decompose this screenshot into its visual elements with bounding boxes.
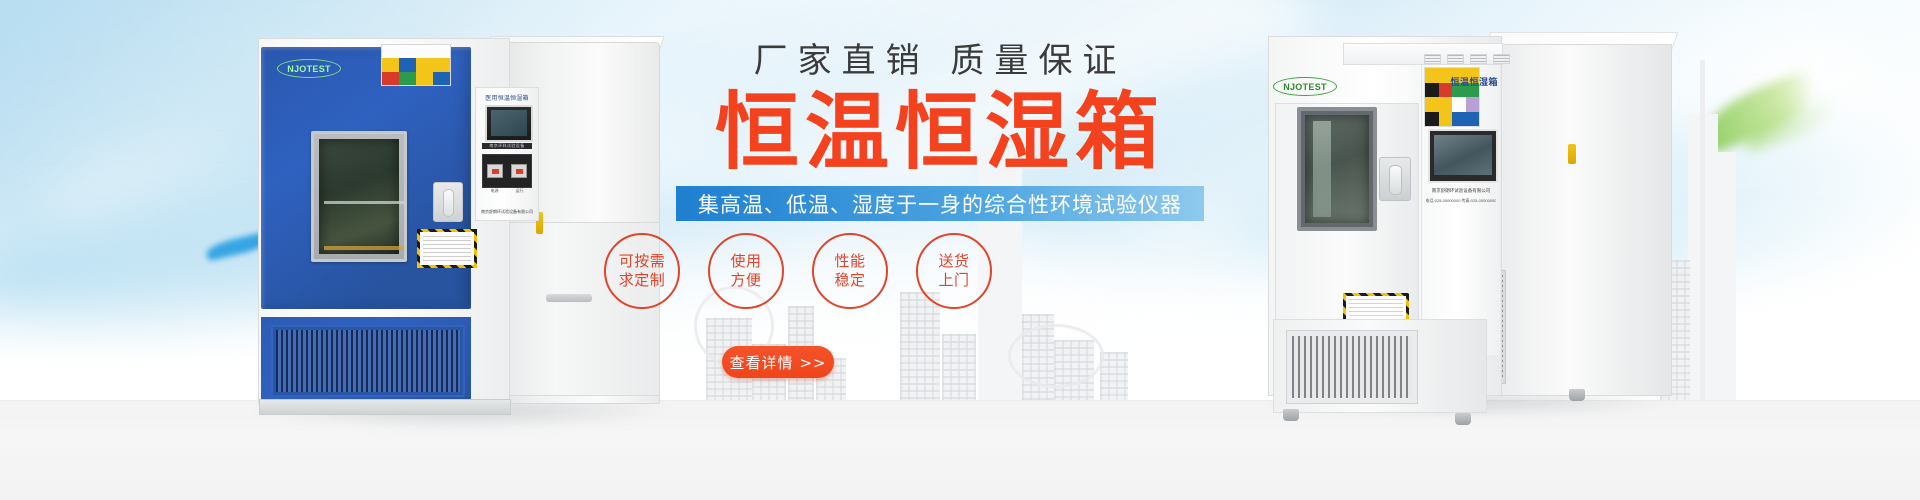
badge-line-2: 求定制 — [619, 271, 666, 290]
side-latch — [1568, 144, 1576, 164]
side-handle — [546, 294, 592, 302]
control-panel[interactable]: 医用恒温恒湿箱 南京环科试验设备 电源 运行 南京舒朗环试验设备有限公司 — [475, 87, 539, 221]
badge-line-2: 稳定 — [834, 271, 865, 290]
interior-shelf — [324, 201, 404, 204]
product-image-left-chamber: NJOTEST 医用恒温恒湿箱 南京环科试验设备 — [258, 32, 658, 408]
leveling-foot — [1569, 389, 1585, 401]
run-button-label: 运行 — [516, 188, 524, 194]
badge-line-2: 方便 — [730, 271, 761, 290]
tagline: 厂家直销 质量保证 — [660, 44, 1220, 78]
manufacturer-text: 南京舒朗环试验设备有限公司 — [479, 208, 535, 216]
control-panel-title: 医用恒温恒湿箱 — [480, 92, 534, 102]
button-labels: 电源 运行 — [482, 187, 532, 194]
compressor-housing — [261, 317, 471, 401]
touchscreen-display[interactable] — [1428, 129, 1498, 183]
safety-sticker — [381, 44, 451, 86]
compressor-housing — [1273, 319, 1487, 413]
touchscreen-display[interactable] — [485, 105, 533, 142]
tower-spire — [1700, 60, 1705, 410]
door-viewing-window — [1297, 107, 1377, 231]
subtitle-bar: 集高温、低温、湿度于一身的综合性环境试验仪器 — [676, 186, 1204, 221]
cabinet-side-panel — [1484, 44, 1672, 396]
badge-line-1: 可按需 — [619, 252, 666, 271]
feature-badge-list: 可按需 求定制 使用 方便 性能 稳定 送货 上门 — [604, 230, 1024, 312]
ventilation-grille — [1286, 330, 1418, 404]
product-image-right-chamber: NJOTEST 恒温恒湿箱 南京舒朗环试验设备有限公司 电话:025-00000… — [1268, 14, 1668, 408]
leveling-foot — [1455, 413, 1471, 425]
copy-block: 厂家直销 质量保证 恒温恒湿箱 集高温、低温、湿度于一身的综合性环境试验仪器 — [660, 44, 1220, 221]
door-handle — [1379, 157, 1411, 201]
badge-line-1: 送货 — [938, 252, 969, 271]
control-panel-title: 恒温恒湿箱 — [1424, 75, 1498, 87]
cabinet-base — [259, 399, 511, 415]
badge-line-1: 使用 — [730, 252, 761, 271]
top-vent-slots — [1424, 54, 1510, 64]
tower-building — [1718, 152, 1736, 410]
cabinet-front: NJOTEST 医用恒温恒湿箱 南京环科试验设备 — [258, 38, 510, 404]
power-button[interactable] — [487, 164, 503, 178]
contact-text: 电话:025-00000000 传真:025-00000000 — [1426, 197, 1496, 204]
building — [942, 334, 976, 410]
cabinet-front: NJOTEST 恒温恒湿箱 南京舒朗环试验设备有限公司 电话:025-00000… — [1268, 36, 1502, 396]
feature-badge-stable[interactable]: 性能 稳定 — [812, 233, 888, 309]
run-button[interactable] — [511, 164, 527, 178]
ventilation-grille — [271, 325, 465, 397]
manufacturer-text: 南京舒朗环试验设备有限公司 — [1426, 187, 1496, 195]
decor-ring — [1008, 324, 1104, 388]
badge-line-2: 上门 — [938, 271, 969, 290]
interior-floor — [324, 246, 404, 250]
control-button-row[interactable] — [482, 154, 532, 188]
headline: 恒温恒湿箱 — [660, 90, 1220, 174]
leveling-foot — [1283, 409, 1299, 421]
window-glass — [319, 139, 399, 254]
promo-banner: NJOTEST 医用恒温恒湿箱 南京环科试验设备 — [0, 0, 1920, 500]
feature-badge-delivery[interactable]: 送货 上门 — [916, 233, 992, 309]
window-glass — [1305, 115, 1369, 223]
door-viewing-window — [311, 131, 407, 262]
feature-badge-custom[interactable]: 可按需 求定制 — [604, 233, 680, 309]
chamber-door-blue: NJOTEST — [261, 47, 471, 309]
warning-label — [417, 229, 477, 268]
cabinet-top-cap — [1343, 43, 1503, 65]
view-details-button[interactable]: 查看详情 >> — [722, 346, 834, 378]
power-button-label: 电源 — [491, 188, 499, 194]
brand-logo: NJOTEST — [277, 59, 341, 78]
badge-line-1: 性能 — [834, 252, 865, 271]
control-panel[interactable]: 恒温恒湿箱 南京舒朗环试验设备有限公司 电话:025-00000000 传真:0… — [1421, 65, 1500, 355]
brand-logo: NJOTEST — [1273, 77, 1337, 96]
door-handle — [433, 182, 463, 222]
feature-badge-easy-use[interactable]: 使用 方便 — [708, 233, 784, 309]
panel-strip-label: 南京环科试验设备 — [482, 143, 532, 149]
